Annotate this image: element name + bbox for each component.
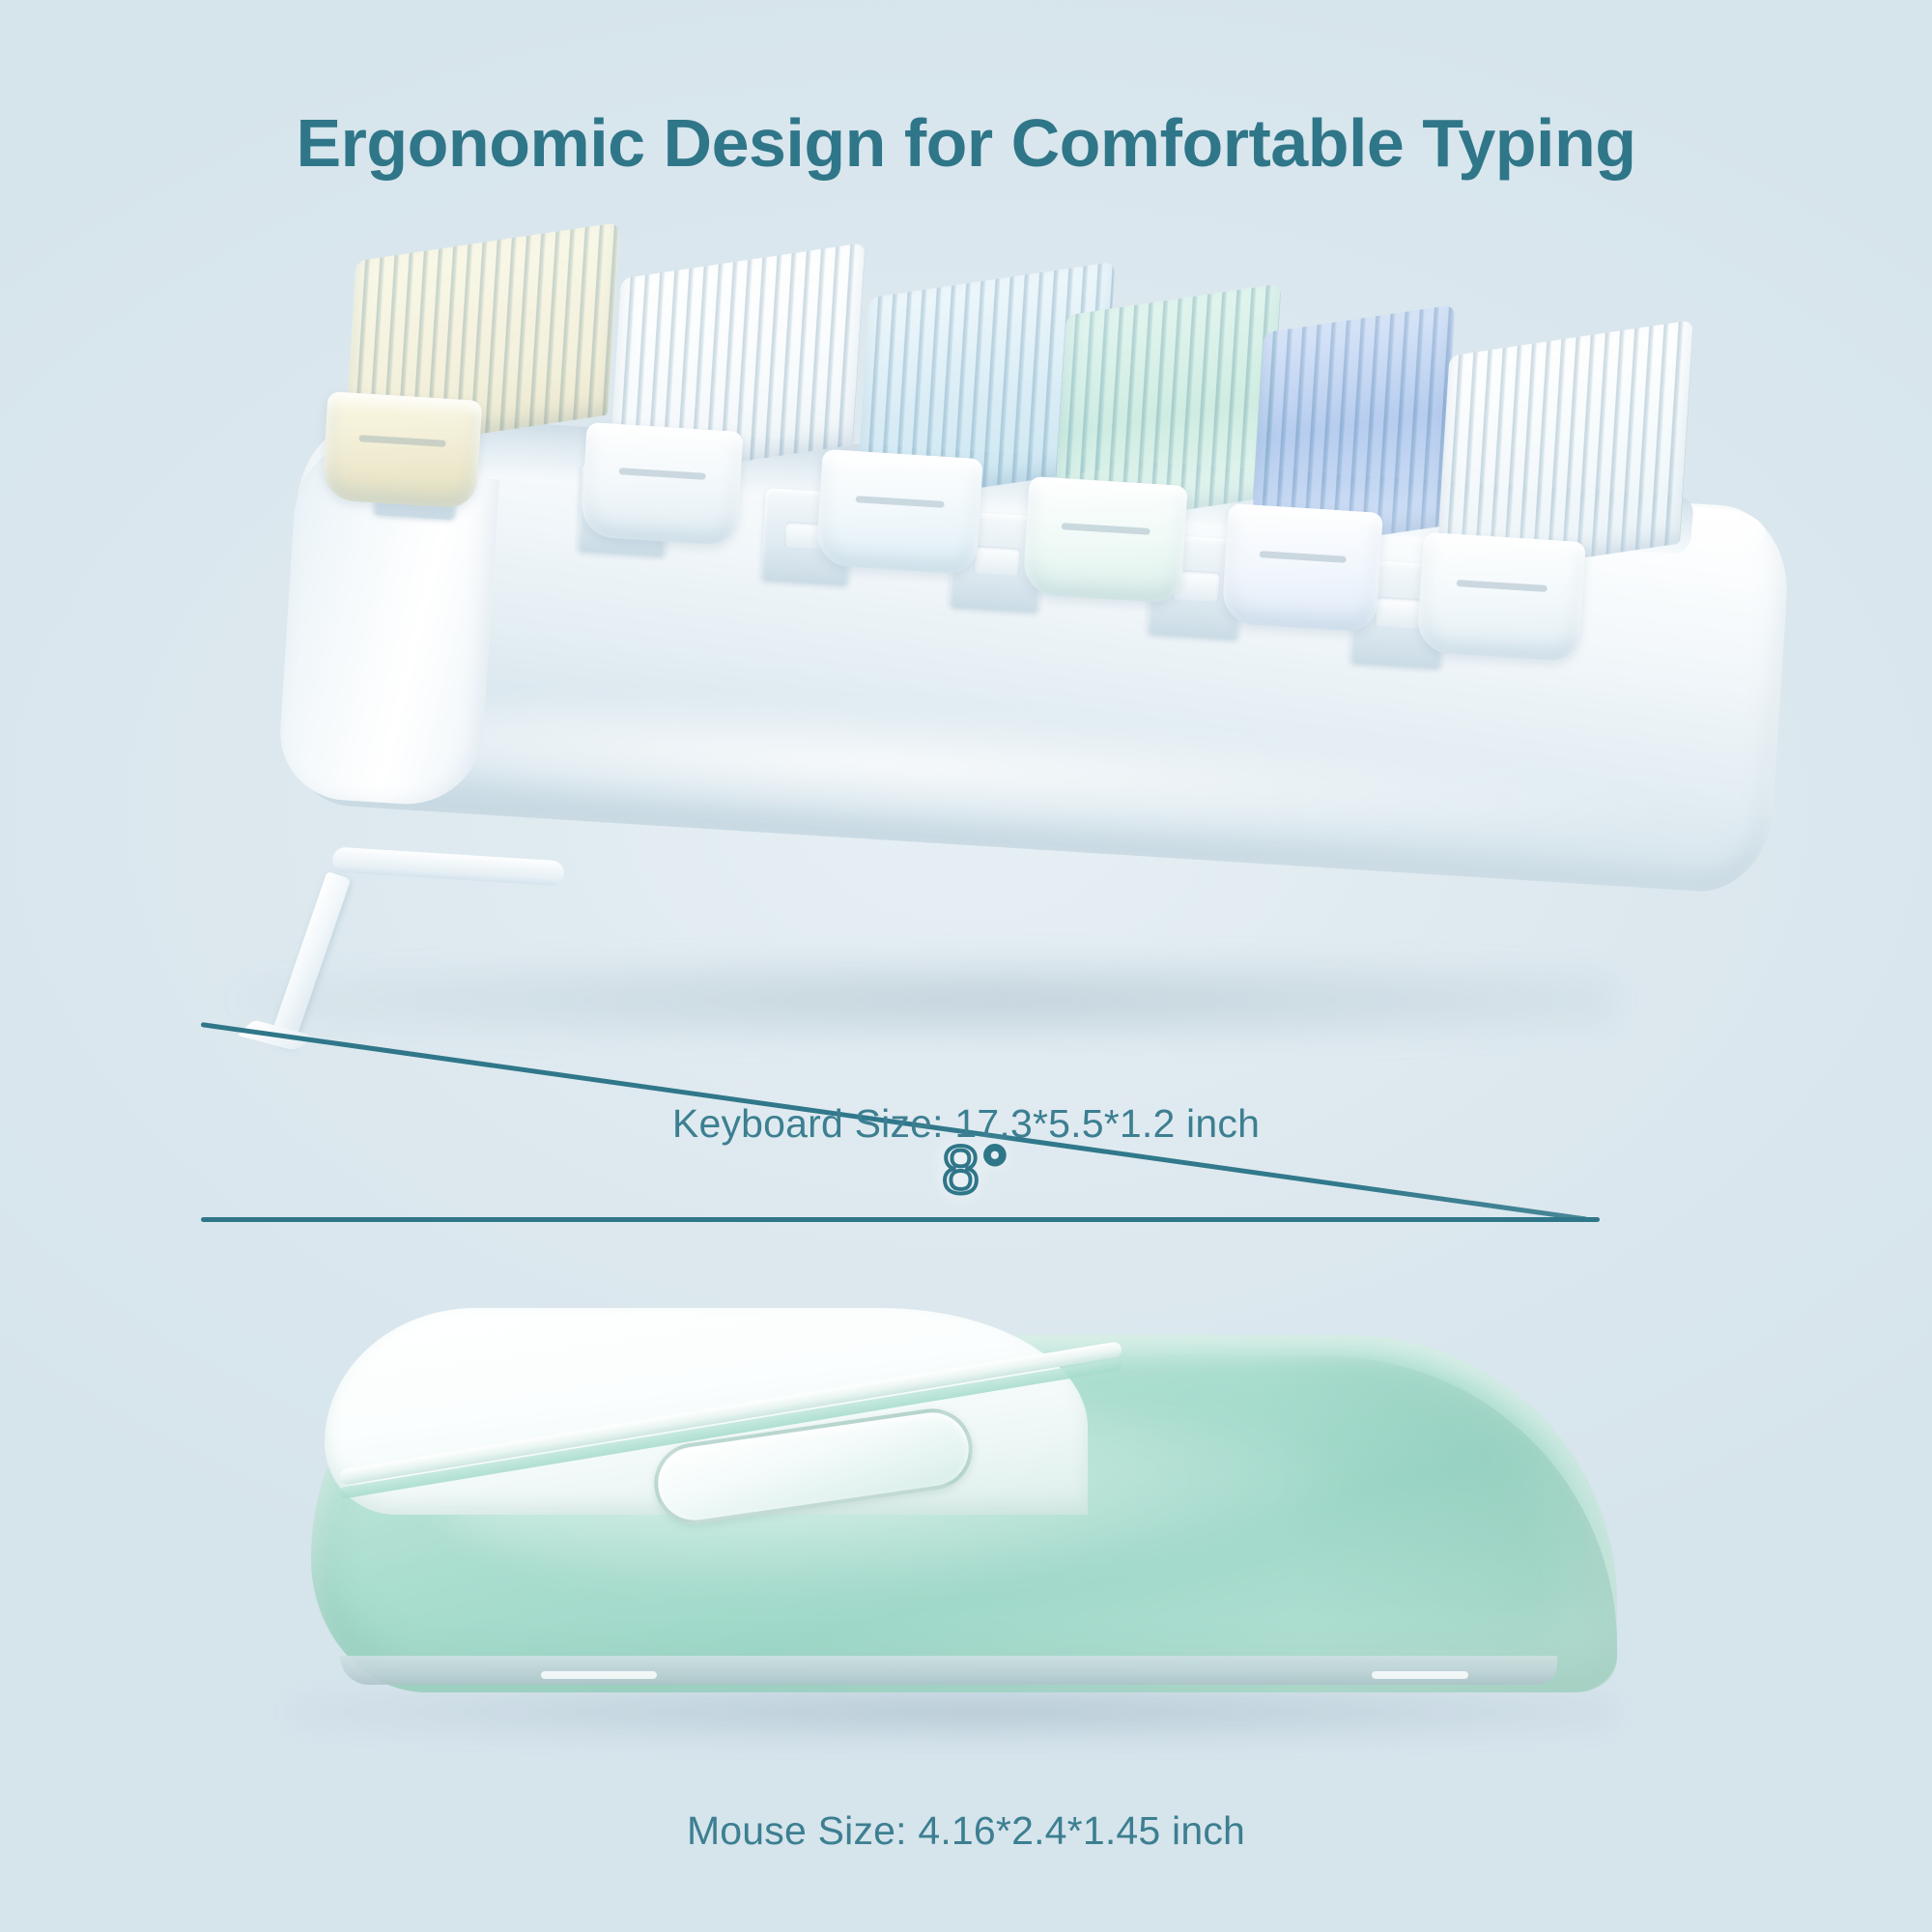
keycap-front-palewhite: [1416, 532, 1585, 662]
angle-guide-base-line: [201, 1217, 1600, 1222]
mouse-size-caption: Mouse Size: 4.16*2.4*1.45 inch: [0, 1808, 1932, 1854]
keycap-front-periwinkle: [1221, 503, 1382, 633]
mouse-glide-foot: [541, 1671, 657, 1679]
product-feature-image: Ergonomic Design for Comfortable Typing: [0, 0, 1932, 1932]
kickstand-hinge: [331, 846, 564, 886]
keyboard-drop-shadow: [241, 956, 1613, 1043]
mouse-base-strip: [340, 1656, 1557, 1685]
keycap-front-cream: [322, 391, 483, 509]
page-title: Ergonomic Design for Comfortable Typing: [0, 104, 1932, 182]
mouse-illustration: [0, 1246, 1932, 1748]
keycap-front-mint: [1022, 476, 1187, 604]
keyboard-size-caption: Keyboard Size: 17.3*5.5*1.2 inch: [0, 1101, 1932, 1147]
keycap-front-lightblue: [815, 449, 982, 575]
keycap-front-white: [580, 422, 743, 546]
keyboard-illustration: 8°: [0, 222, 1932, 1053]
mouse-glide-foot: [1372, 1671, 1468, 1679]
